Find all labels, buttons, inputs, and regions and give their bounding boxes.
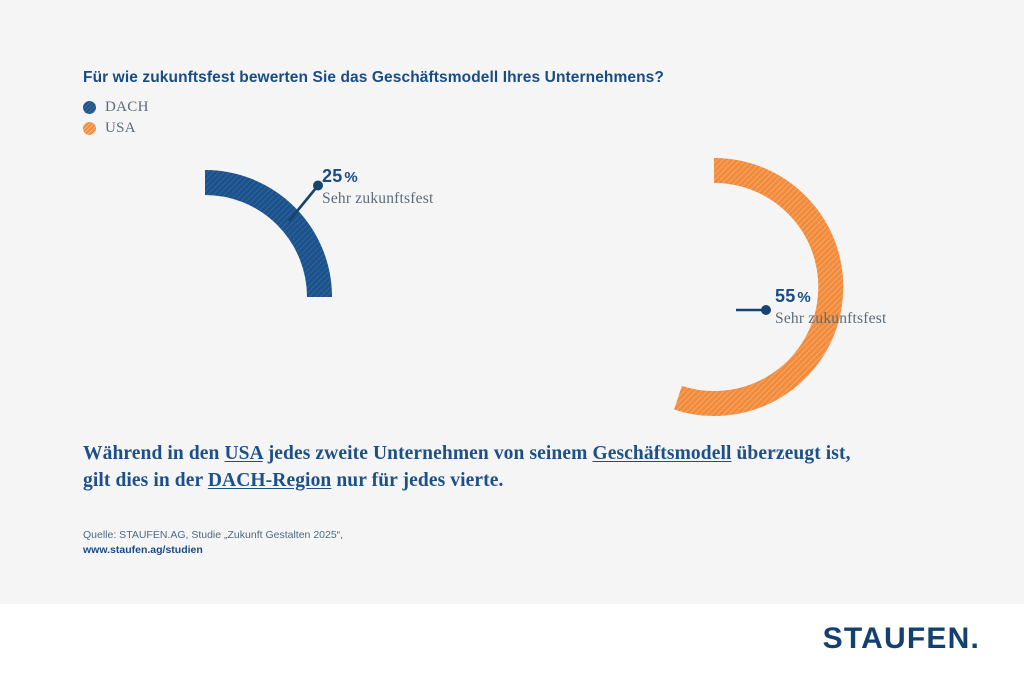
staufen-logo: STAUFEN. (823, 622, 980, 656)
source-line: Quelle: STAUFEN.AG, Studie „Zukunft Gest… (83, 528, 343, 543)
callout-sub-usa: Sehr zukunftsfest (775, 310, 886, 328)
callout-dach: 25% Sehr zukunftsfest (322, 166, 433, 208)
callout-unit-dach: % (344, 169, 358, 186)
caption-line1-a: Während in den (83, 443, 224, 464)
leader-line-usa (736, 305, 771, 315)
chart-area: 25% Sehr zukunftsfest 55% Sehr zukunftsf… (0, 0, 1024, 604)
caption-line1-b: jedes zweite Unternehmen von seinem (263, 443, 593, 464)
caption-highlight-dach-region: DACH-Region (208, 470, 332, 491)
caption-line1-c: überzeugt ist, (732, 443, 851, 464)
callout-number-usa: 55 (775, 286, 795, 306)
caption-highlight-geschaeftsmodell: Geschäftsmodell (592, 443, 731, 464)
caption-text: Während in den USA jedes zweite Unterneh… (83, 440, 963, 494)
source-block: Quelle: STAUFEN.AG, Studie „Zukunft Gest… (83, 528, 343, 558)
caption-line2-a: gilt dies in der (83, 470, 208, 491)
source-url[interactable]: www.staufen.ag/studien (83, 543, 343, 558)
callout-value-dach: 25% (322, 166, 433, 187)
callout-unit-usa: % (797, 289, 811, 306)
leader-line-dach (289, 181, 323, 222)
callout-usa: 55% Sehr zukunftsfest (775, 286, 886, 328)
infographic-page: Für wie zukunftsfest bewerten Sie das Ge… (0, 0, 1024, 678)
arc-segment-dach[interactable] (205, 183, 320, 298)
callout-sub-dach: Sehr zukunftsfest (322, 190, 433, 208)
caption-line2-b: nur für jedes vierte. (331, 470, 503, 491)
callout-value-usa: 55% (775, 286, 886, 307)
callout-number-dach: 25 (322, 166, 342, 186)
caption-highlight-usa: USA (224, 443, 262, 464)
